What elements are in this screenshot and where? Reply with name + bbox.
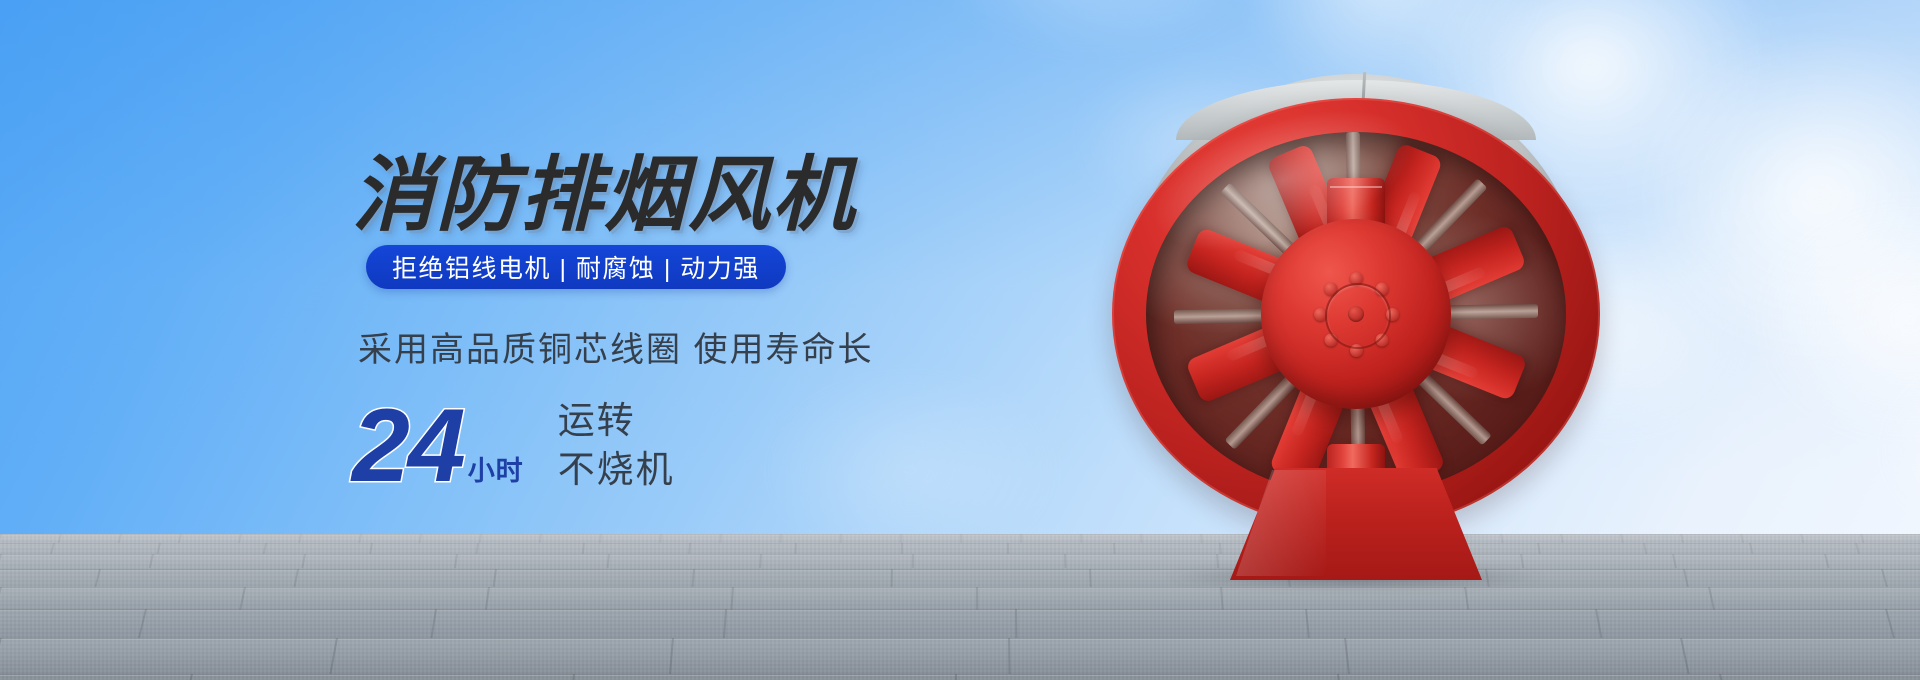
paver-joint bbox=[900, 534, 902, 543]
subtitle-text: 采用高品质铜芯线圈 使用寿命长 bbox=[358, 322, 873, 371]
fan-hub bbox=[1261, 219, 1451, 409]
paver-joint bbox=[1064, 554, 1066, 568]
paver-joint bbox=[1080, 534, 1082, 543]
fan-housing bbox=[1112, 98, 1600, 530]
page-title: 消防排烟风机 bbox=[352, 128, 856, 247]
paver-joint bbox=[960, 534, 962, 543]
paver-joint bbox=[955, 674, 957, 680]
promo-banner: 消防排烟风机 拒绝铝线电机 | 耐腐蚀 | 动力强 采用高品质铜芯线圈 使用寿命… bbox=[0, 0, 1920, 680]
fan-duct-interior bbox=[1146, 132, 1566, 496]
hours-description: 运转 不烧机 bbox=[558, 398, 675, 492]
hours-number: 24 bbox=[352, 399, 464, 495]
feature-badge: 拒绝铝线电机 | 耐腐蚀 | 动力强 bbox=[366, 245, 786, 289]
paver-joint bbox=[912, 554, 914, 568]
hub-center-bolt bbox=[1348, 306, 1364, 322]
copy-block: 消防排烟风机 拒绝铝线电机 | 耐腐蚀 | 动力强 采用高品质铜芯线圈 使用寿命… bbox=[0, 0, 900, 680]
paver-joint bbox=[901, 543, 903, 554]
paver-joint bbox=[1007, 543, 1009, 554]
hours-line-2: 不烧机 bbox=[558, 447, 675, 492]
paver-joint bbox=[1015, 609, 1017, 638]
paver-joint bbox=[976, 587, 978, 610]
hours-unit-label: 小时 bbox=[468, 449, 524, 488]
column-seam bbox=[1330, 186, 1382, 188]
paver-joint bbox=[1020, 534, 1022, 543]
hours-claim: 24 小时 运转 不烧机 bbox=[352, 398, 675, 494]
hours-line-1: 运转 bbox=[558, 398, 675, 443]
product-image-fan bbox=[1106, 72, 1606, 612]
